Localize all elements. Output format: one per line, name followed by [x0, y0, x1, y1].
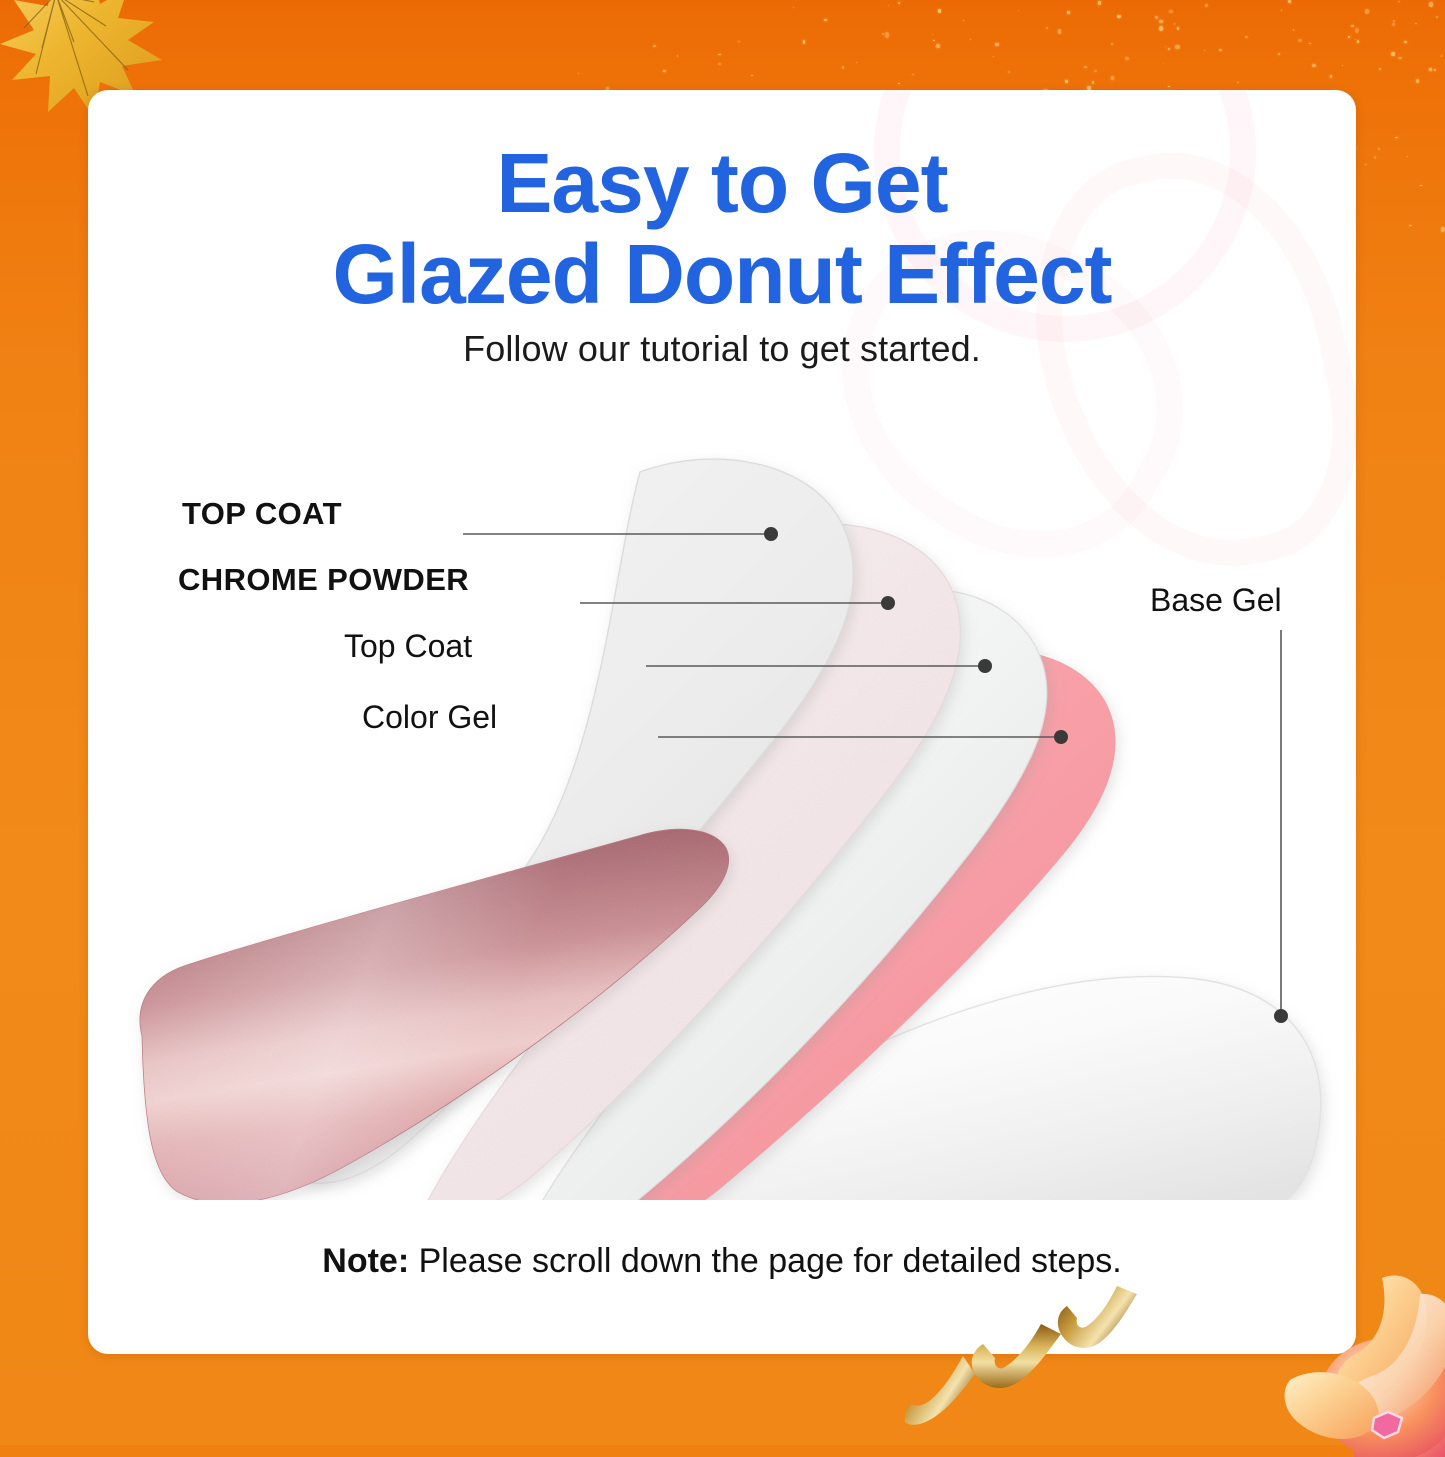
abstract-bloom-decoration: [1262, 1272, 1445, 1457]
nail-layers-diagram: TOP COAT CHROME POWDER Top Coat Color Ge…: [88, 90, 1356, 1354]
content-card: Easy to Get Glazed Donut Effect Follow o…: [88, 90, 1356, 1354]
label-base-gel: Base Gel: [1150, 582, 1282, 619]
leader-dot-top-coat: [978, 659, 992, 673]
label-top-coat: Top Coat: [344, 628, 472, 665]
note-body: Please scroll down the page for detailed…: [419, 1242, 1122, 1280]
note-prefix: Note:: [322, 1242, 409, 1280]
label-color-gel: Color Gel: [362, 699, 497, 736]
leader-dot-top-coat-final: [764, 527, 778, 541]
leader-dot-base-gel: [1274, 1009, 1288, 1023]
gold-ribbon-decoration: [905, 1276, 1235, 1446]
leader-dot-chrome-powder: [881, 596, 895, 610]
leader-dot-color-gel: [1054, 730, 1068, 744]
label-chrome-powder: CHROME POWDER: [178, 562, 469, 598]
label-top-coat-final: TOP COAT: [182, 496, 342, 532]
